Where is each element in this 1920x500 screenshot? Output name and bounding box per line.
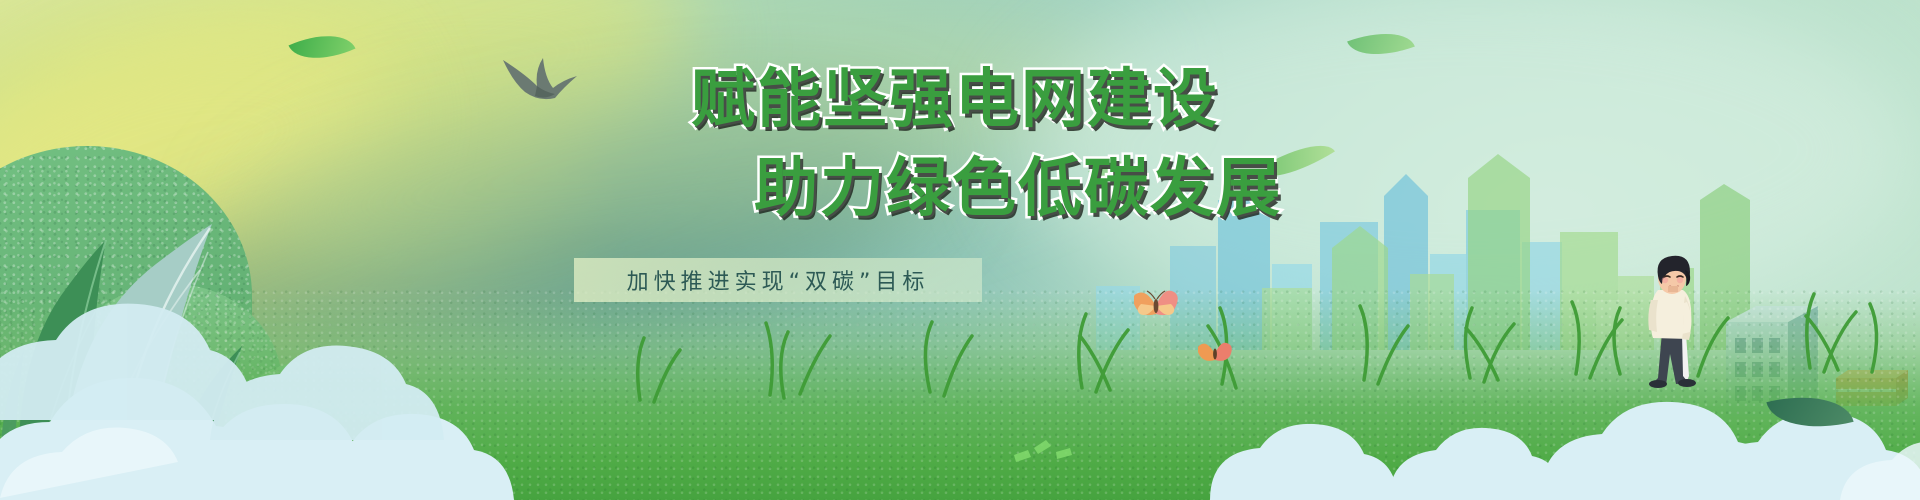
walking-person bbox=[1640, 250, 1710, 390]
butterfly-icon bbox=[1198, 340, 1232, 371]
grass-ground bbox=[0, 290, 1920, 500]
butterfly-icon bbox=[1134, 288, 1178, 327]
subtitle-text: 加快推进实现“双碳”目标 bbox=[627, 264, 930, 296]
subtitle-bar: 加快推进实现“双碳”目标 bbox=[574, 258, 982, 302]
swallow-bird-icon bbox=[497, 58, 583, 110]
eco-power-grid-banner: 赋能坚强电网建设 助力绿色低碳发展 加快推进实现“双碳”目标 bbox=[0, 0, 1920, 500]
